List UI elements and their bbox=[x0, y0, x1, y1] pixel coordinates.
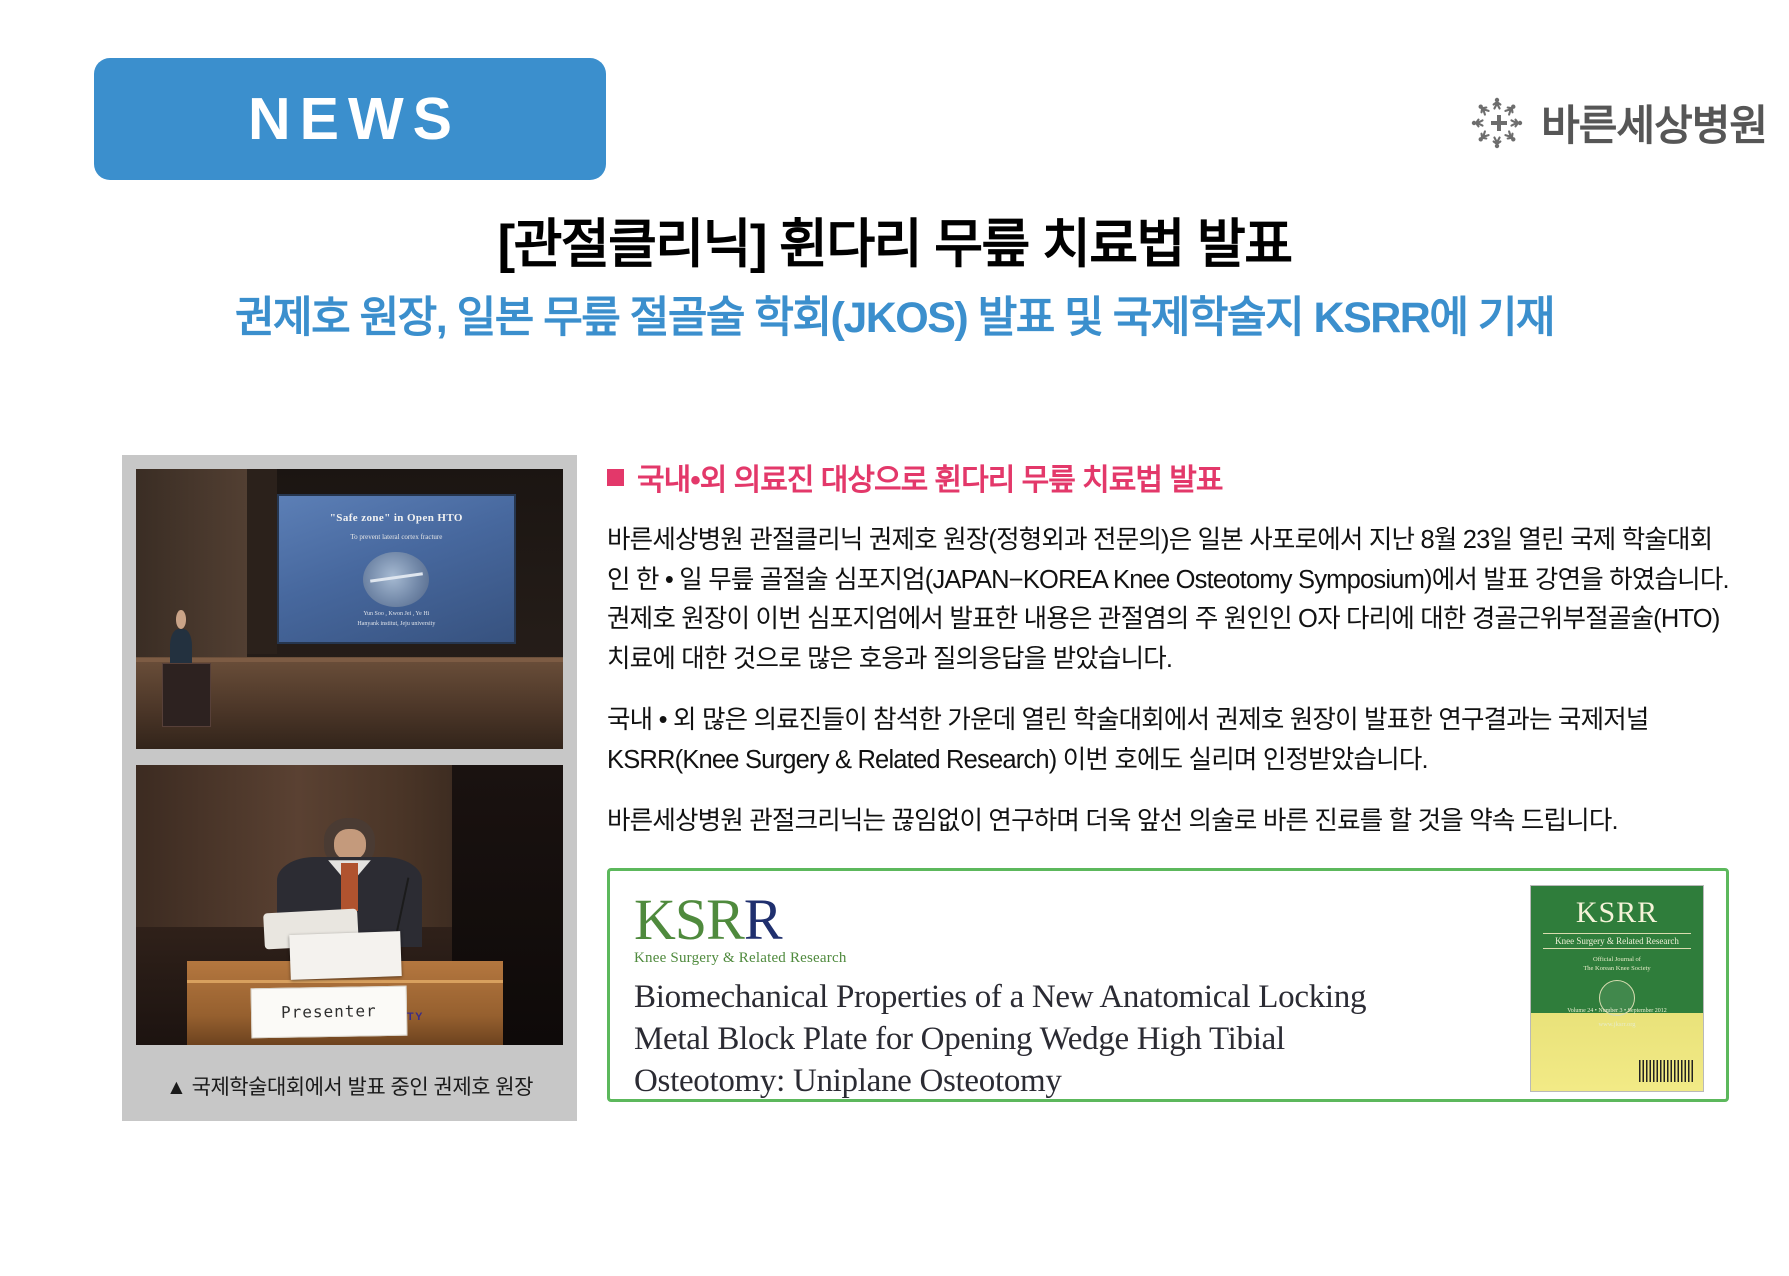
photo2-placard-text: Presenter bbox=[281, 1001, 377, 1022]
slide-footer-authors: Yun Soo , Kwon Jei , Ye Hi bbox=[279, 611, 514, 617]
journal-cover-title: KSRR bbox=[1531, 886, 1703, 930]
brand-logo: 바른세상병원 bbox=[1467, 92, 1767, 153]
photo1-podium bbox=[162, 663, 211, 727]
people-circle-cross-icon bbox=[1467, 93, 1527, 153]
page-title: [관절클리닉] 휜다리 무릎 치료법 발표 bbox=[0, 215, 1789, 276]
journal-cover-thumbnail: KSRR Knee Surgery & Related Research Off… bbox=[1530, 885, 1704, 1092]
article-text-column: 국내•외 의료진 대상으로 휜다리 무릎 치료법 발표 바른세상병원 관절클리닉… bbox=[607, 455, 1729, 1121]
presenter-lectern-photo: HOKKAIDO UNIVERSITY Presenter bbox=[136, 765, 563, 1045]
article-paragraph: 바른세상병원 관절크리닉는 끊임없이 연구하며 더욱 앞선 의술로 바른 진료를… bbox=[607, 802, 1729, 842]
square-bullet-icon bbox=[607, 469, 624, 486]
slide-footer-affiliation: Hanyank institut, Jeju university bbox=[279, 621, 514, 627]
journal-cover-subtitle: Knee Surgery & Related Research bbox=[1543, 933, 1691, 949]
photo-caption: ▲ 국제학술대회에서 발표 중인 권제호 원장 bbox=[136, 1061, 563, 1117]
title-block: [관절클리닉] 휜다리 무릎 치료법 발표 권제호 원장, 일본 무릎 절골술 … bbox=[0, 215, 1789, 343]
photo2-presenter-placard: Presenter bbox=[251, 986, 408, 1038]
article-paragraph: 국내 • 외 많은 의료진들이 참석한 가운데 열린 학술대회에서 권제호 원장… bbox=[607, 701, 1729, 780]
photo2-presenter-tie bbox=[341, 863, 358, 911]
news-badge-label: NEWS bbox=[239, 85, 461, 153]
journal-cover-line-3: www.jksrr.org bbox=[1531, 1020, 1703, 1030]
auditorium-presentation-photo: "Safe zone" in Open HTO To prevent later… bbox=[136, 469, 563, 749]
photo2-presenter-face bbox=[334, 829, 366, 860]
news-badge: NEWS bbox=[94, 58, 606, 180]
slide-subtitle: To prevent lateral cortex fracture bbox=[279, 533, 514, 541]
photo2-lectern-band bbox=[187, 980, 503, 983]
page-header: NEWS bbox=[0, 0, 1789, 200]
photo1-wall-panel-2 bbox=[247, 469, 277, 654]
journal-cover-line-1: Official Journal of bbox=[1531, 955, 1703, 965]
article-paragraph: 바른세상병원 관절클리닉 권제호 원장(정형외과 전문의)은 일본 사포로에서 … bbox=[607, 521, 1729, 679]
ksrr-logo-green-part: KSR bbox=[634, 887, 744, 952]
photo-column: "Safe zone" in Open HTO To prevent later… bbox=[122, 455, 577, 1121]
photo1-projection-screen: "Safe zone" in Open HTO To prevent later… bbox=[277, 494, 516, 644]
section-heading: 국내•외 의료진 대상으로 휜다리 무릎 치료법 발표 bbox=[607, 455, 1729, 499]
photo1-stage-rail bbox=[136, 658, 563, 662]
brand-name: 바른세상병원 bbox=[1541, 92, 1767, 153]
section-heading-label: 국내•외 의료진 대상으로 휜다리 무릎 치료법 발표 bbox=[637, 455, 1223, 499]
ksrr-logo-blue-part: R bbox=[744, 887, 782, 952]
content-area: "Safe zone" in Open HTO To prevent later… bbox=[122, 455, 1729, 1121]
paper-title: Biomechanical Properties of a New Anatom… bbox=[634, 976, 1394, 1102]
slide-title: "Safe zone" in Open HTO bbox=[279, 512, 514, 524]
slide-xray-image bbox=[363, 552, 429, 607]
journal-citation-box: KSRR Knee Surgery & Related Research Bio… bbox=[607, 868, 1729, 1102]
journal-cover-line-2: The Korean Knee Society bbox=[1531, 964, 1703, 974]
journal-cover-volume: Volume 24 • Number 3 • September 2012 bbox=[1531, 1008, 1703, 1014]
photo2-papers bbox=[289, 931, 402, 980]
journal-cover-barcode bbox=[1639, 1060, 1693, 1082]
photo1-wall-panel bbox=[136, 469, 247, 671]
page-subtitle: 권제호 원장, 일본 무릎 절골술 학회(JKOS) 발표 및 국제학술지 KS… bbox=[0, 294, 1789, 343]
